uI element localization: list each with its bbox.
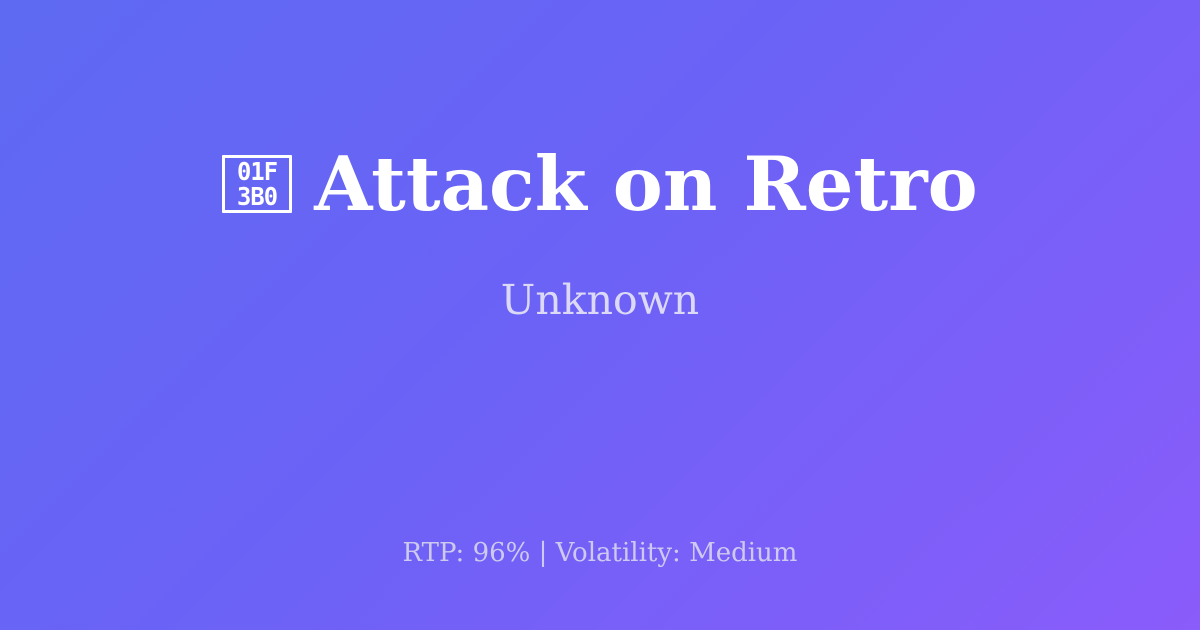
card-subtitle: Unknown [501, 276, 699, 324]
card-footer-stats: RTP: 96% | Volatility: Medium [0, 538, 1200, 568]
slot-machine-icon: 01F 3B0 [222, 155, 292, 213]
hero-block: 01F 3B0 Attack on Retro Unknown [0, 0, 1200, 470]
title-row: 01F 3B0 Attack on Retro [222, 147, 977, 222]
page-title: Attack on Retro [314, 147, 977, 222]
tofu-codepoint-top: 01F [237, 159, 277, 184]
og-preview-card: 01F 3B0 Attack on Retro Unknown RTP: 96%… [0, 0, 1200, 630]
tofu-codepoint-bottom: 3B0 [237, 184, 277, 209]
